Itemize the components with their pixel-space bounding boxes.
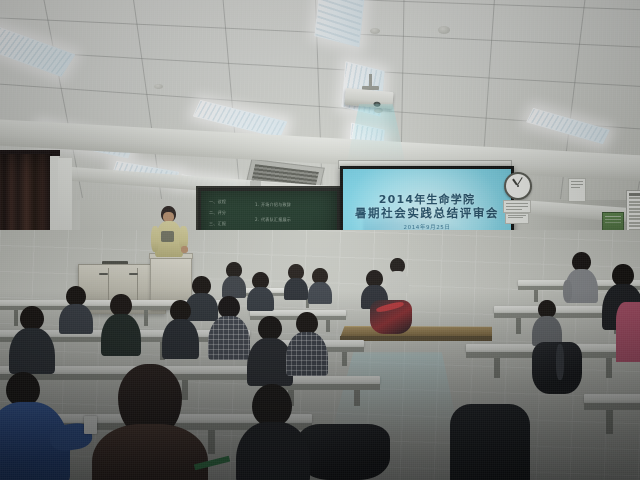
slide-title-line2: 暑期社会实践总结评审会 [343, 205, 511, 221]
wall-clock [504, 172, 532, 200]
speaker-icon [438, 26, 450, 34]
smoke-detector-icon [154, 84, 163, 89]
blackboard-text-left-2: 二、评分 [209, 210, 226, 216]
smoke-detector-icon [374, 108, 383, 113]
blackboard-text-left-1: 一、议程 [209, 199, 226, 205]
notice-sign-small [505, 213, 529, 224]
presenter-shirt-print [161, 231, 174, 242]
desk-row [584, 394, 640, 434]
blackboard-text-left-3: 三、汇报 [209, 221, 226, 227]
smoke-detector-icon [370, 28, 380, 34]
presenter-standing [150, 206, 190, 262]
bag-on-aisle-floor [298, 424, 390, 480]
wall-notice-right [568, 178, 586, 202]
clock-center-pin-icon [517, 185, 519, 187]
blackboard-text-right-2: 2. 代表队汇报展示 [255, 217, 291, 223]
presenter-hand [181, 246, 188, 253]
mobile-phone[interactable] [84, 416, 97, 434]
classroom-photo-scene: 一、议程 二、评分 三、汇报 四、点评 五、总结 1. 开场介绍与致辞 2. 代… [0, 0, 640, 480]
presenter-arm-left [151, 226, 159, 252]
projector-lens-icon [373, 101, 380, 107]
notice-sign-below-clock [503, 200, 531, 213]
cabinet-handle-icon[interactable] [99, 273, 108, 275]
backpack-strap [556, 344, 564, 380]
cabinet-handle-icon[interactable] [129, 273, 138, 275]
blackboard-text-right-1: 1. 开场介绍与致辞 [255, 202, 291, 208]
